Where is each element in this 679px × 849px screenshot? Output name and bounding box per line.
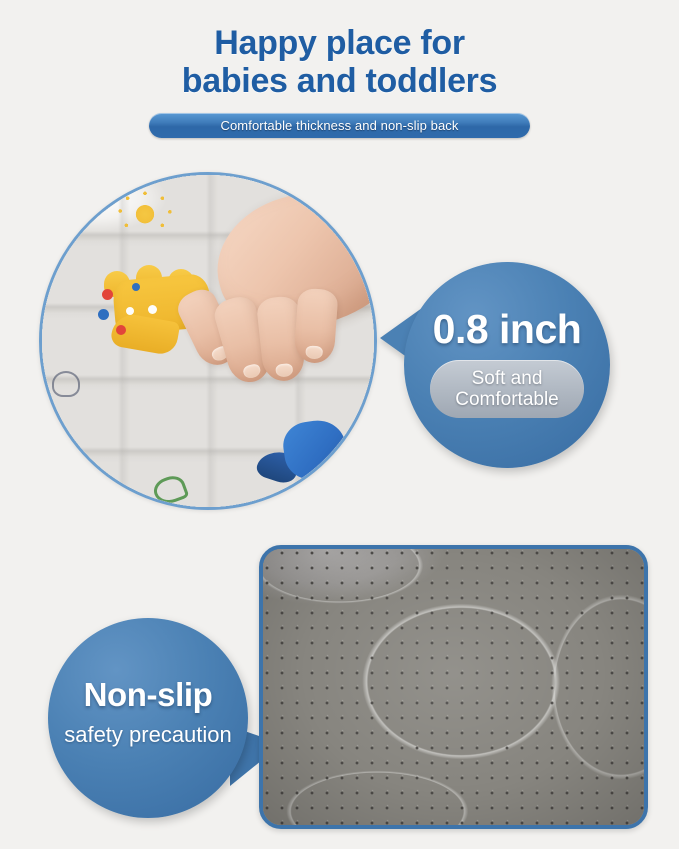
hand-pressing bbox=[166, 193, 377, 403]
whale-print-icon bbox=[248, 411, 352, 485]
subtitle-text: Comfortable thickness and non-slip back bbox=[220, 118, 458, 133]
infographic-page: Happy place for babies and toddlers Comf… bbox=[0, 0, 679, 849]
subtitle-banner: Comfortable thickness and non-slip back bbox=[149, 113, 530, 138]
page-title: Happy place for babies and toddlers bbox=[0, 24, 679, 100]
thickness-pill: Soft and Comfortable bbox=[430, 360, 584, 418]
nonslip-subtitle: safety precaution bbox=[48, 722, 248, 748]
nonslip-title: Non-slip bbox=[48, 676, 248, 714]
panel-vignette bbox=[263, 549, 644, 825]
sketch-print-icon bbox=[52, 371, 80, 397]
thickness-pill-text: Soft and Comfortable bbox=[455, 368, 559, 411]
thickness-value: 0.8 inch bbox=[404, 306, 610, 353]
thickness-callout: 0.8 inch Soft and Comfortable bbox=[404, 262, 610, 468]
nonslip-callout: Non-slip safety precaution bbox=[48, 618, 248, 818]
nonslip-backing-photo bbox=[259, 545, 648, 829]
hand-press-photo bbox=[39, 172, 377, 510]
header-block: Happy place for babies and toddlers Comf… bbox=[0, 24, 679, 138]
callout-bubble bbox=[48, 618, 248, 818]
